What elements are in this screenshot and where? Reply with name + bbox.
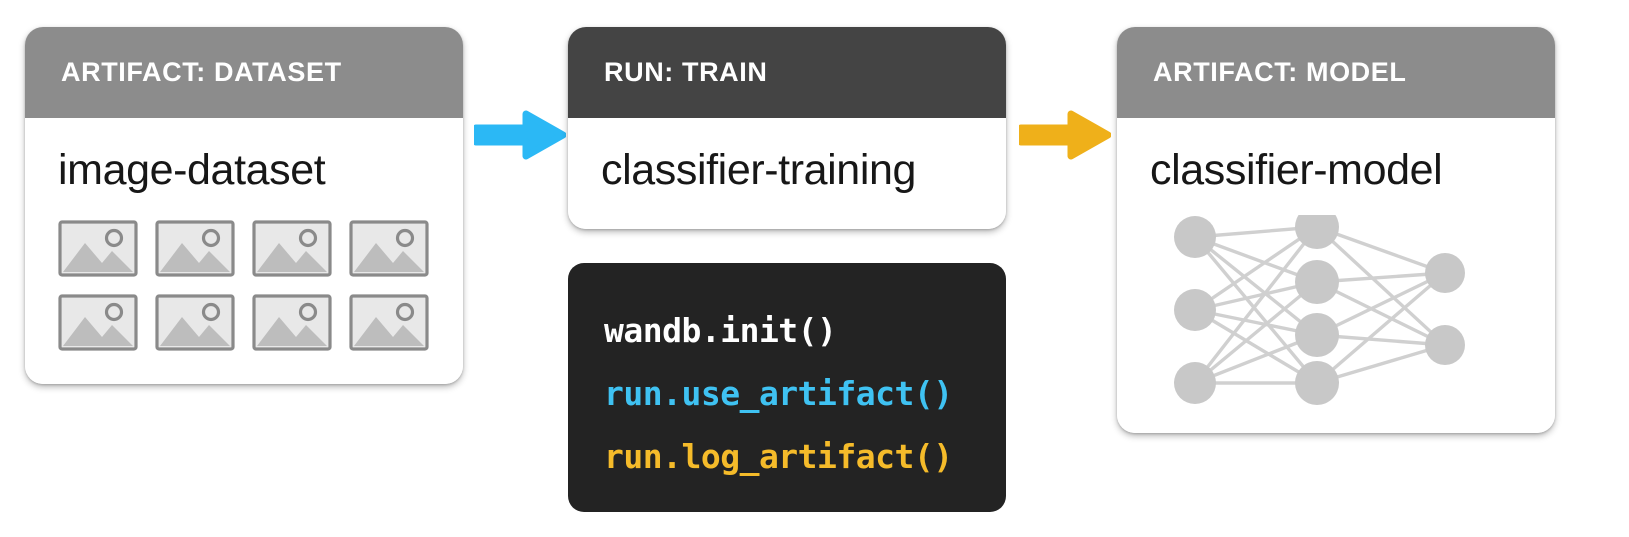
image-placeholder-icon: [58, 220, 138, 277]
code-line-log-artifact: run.log_artifact(): [604, 425, 1006, 488]
card-artifact-dataset[interactable]: ARTIFACT: DATASET image-dataset: [25, 27, 463, 384]
image-placeholder-icon: [349, 220, 429, 277]
card-header-label: RUN: TRAIN: [604, 57, 767, 88]
nn-nodes: [1174, 215, 1465, 405]
image-placeholder-icon: [155, 294, 235, 351]
card-header-label: ARTIFACT: DATASET: [61, 57, 342, 88]
card-header-run-train: RUN: TRAIN: [568, 27, 1006, 118]
card-body-artifact-dataset: image-dataset: [25, 118, 463, 384]
code-line-use-artifact: run.use_artifact(): [604, 362, 1006, 425]
card-header-label: ARTIFACT: MODEL: [1153, 57, 1406, 88]
card-run-train[interactable]: RUN: TRAIN classifier-training: [568, 27, 1006, 229]
neural-network-icon: [1155, 215, 1517, 405]
card-header-artifact-dataset: ARTIFACT: DATASET: [25, 27, 463, 118]
image-placeholder-icon: [155, 220, 235, 277]
code-line-wandb-init: wandb.init(): [604, 299, 1006, 362]
card-artifact-model[interactable]: ARTIFACT: MODEL classifier-model: [1117, 27, 1555, 433]
run-train-name: classifier-training: [601, 146, 916, 195]
arrow-right-icon-input: [474, 107, 566, 163]
image-placeholder-icon: [252, 220, 332, 277]
code-block: wandb.init() run.use_artifact() run.log_…: [568, 263, 1006, 512]
card-body-artifact-model: classifier-model: [1117, 118, 1555, 433]
diagram-canvas: ARTIFACT: DATASET image-dataset: [0, 0, 1629, 537]
card-header-artifact-model: ARTIFACT: MODEL: [1117, 27, 1555, 118]
image-placeholder-icon: [58, 294, 138, 351]
arrow-right-icon-output: [1019, 107, 1111, 163]
artifact-dataset-name: image-dataset: [58, 146, 325, 195]
image-placeholder-icon: [252, 294, 332, 351]
card-body-run-train: classifier-training: [568, 118, 1006, 229]
nn-edges: [1195, 227, 1445, 383]
artifact-model-name: classifier-model: [1150, 146, 1442, 195]
image-placeholder-icon: [349, 294, 429, 351]
image-thumbnail-grid: [58, 220, 430, 351]
